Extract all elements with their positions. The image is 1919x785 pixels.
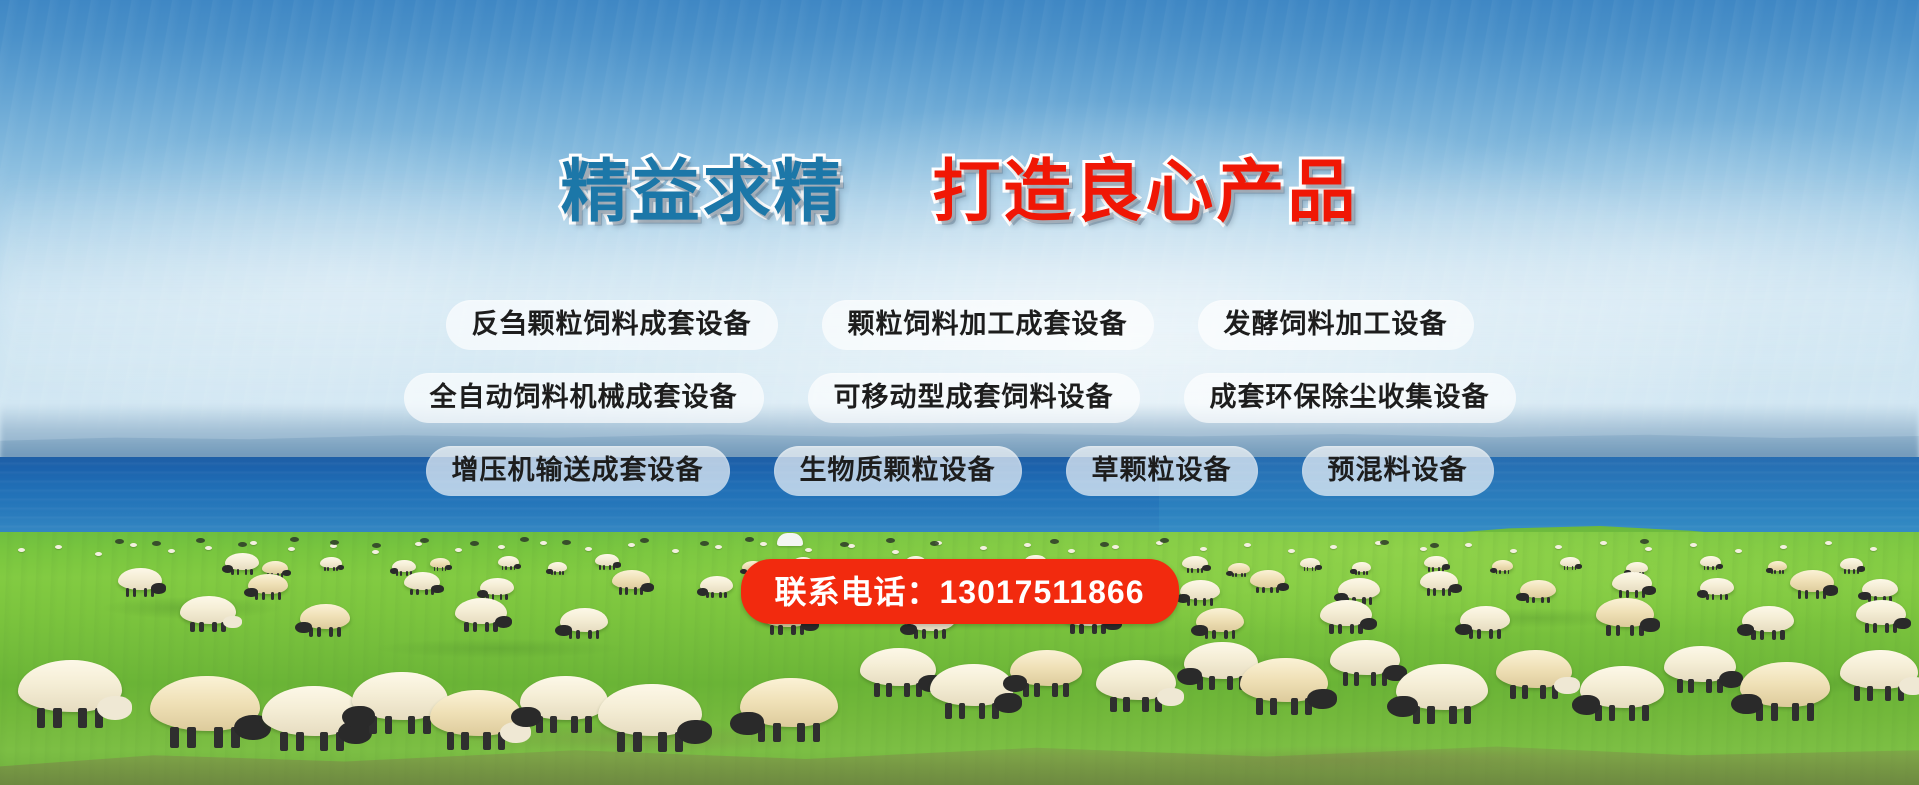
sheep [1250, 570, 1285, 588]
sheep [150, 676, 260, 731]
sheep [1320, 600, 1372, 626]
sheep [1424, 556, 1448, 568]
sheep [1460, 606, 1510, 631]
sheep [1612, 572, 1652, 592]
sheep [262, 561, 288, 574]
sheep [560, 608, 608, 632]
sheep [1396, 664, 1488, 710]
product-pill-zengyaji[interactable]: 增压机输送成套设备 [426, 446, 730, 496]
sheep [1700, 578, 1734, 595]
sheep [1740, 662, 1830, 707]
sheep [225, 553, 259, 570]
sheep [118, 568, 162, 590]
headline-part-2: 打造良心产品 [932, 158, 1358, 226]
sheep [300, 604, 350, 629]
sheep [1240, 658, 1328, 702]
sheep [1420, 571, 1458, 590]
sheep [1182, 556, 1208, 569]
product-row-1: 反刍颗粒饲料成套设备 颗粒饲料加工成套设备 发酵饲料加工设备 [0, 300, 1919, 350]
sheep [1496, 650, 1572, 688]
sheep [1768, 561, 1787, 571]
sheep [1520, 580, 1556, 598]
sheep [1596, 598, 1654, 627]
product-pill-fanchu[interactable]: 反刍颗粒饲料成套设备 [446, 300, 778, 350]
sheep [248, 574, 288, 594]
sheep [392, 560, 416, 572]
product-row-2: 全自动饲料机械成套设备 可移动型成套饲料设备 成套环保除尘收集设备 [0, 373, 1919, 423]
product-row-3: 增压机输送成套设备 生物质颗粒设备 草颗粒设备 预混料设备 [0, 446, 1919, 496]
promo-banner: 精益求精 打造良心产品 反刍颗粒饲料成套设备 颗粒饲料加工成套设备 发酵饲料加工… [0, 0, 1919, 785]
sheep [404, 572, 440, 590]
sheep [595, 554, 619, 566]
sheep [18, 660, 122, 712]
sheep [740, 678, 838, 727]
sheep [1862, 579, 1898, 597]
sheep [1180, 580, 1220, 600]
sheep [1664, 646, 1736, 682]
sheep [1790, 570, 1834, 592]
sheep [612, 570, 650, 589]
product-pill-caokeli[interactable]: 草颗粒设备 [1066, 446, 1258, 496]
sheep [1300, 558, 1320, 568]
product-pill-fajiao[interactable]: 发酵饲料加工设备 [1198, 300, 1474, 350]
sheep [1856, 600, 1906, 625]
sheep [1560, 557, 1580, 567]
sheep [860, 648, 936, 686]
sheep [1700, 556, 1721, 567]
product-pill-keyidong[interactable]: 可移动型成套饲料设备 [808, 373, 1140, 423]
sheep [320, 557, 342, 568]
sheep [1840, 558, 1863, 570]
sheep [1010, 650, 1082, 686]
sheep [700, 576, 733, 593]
sheep [1228, 563, 1250, 574]
sheep [455, 598, 507, 624]
sheep [598, 684, 702, 736]
sheep [520, 676, 608, 720]
product-pill-quanzidong[interactable]: 全自动饲料机械成套设备 [404, 373, 764, 423]
sheep [1742, 606, 1794, 632]
product-pill-keli[interactable]: 颗粒饲料加工成套设备 [822, 300, 1154, 350]
contact-phone-badge[interactable]: 联系电话：13017511866 [740, 559, 1178, 624]
sheep [430, 690, 522, 736]
product-pill-yuhunliao[interactable]: 预混料设备 [1302, 446, 1494, 496]
sheep [1096, 660, 1176, 700]
headline-part-1: 精益求精 [561, 158, 845, 226]
sheep [1330, 640, 1400, 675]
sheep [1492, 560, 1513, 571]
sheep [1338, 578, 1380, 599]
sheep [548, 562, 567, 572]
sheep [930, 664, 1014, 706]
sheep [180, 596, 236, 624]
sheep [1840, 650, 1918, 689]
sheep [430, 558, 450, 568]
product-pill-huanbao[interactable]: 成套环保除尘收集设备 [1184, 373, 1516, 423]
sheep [1580, 666, 1664, 708]
sheep [1196, 608, 1244, 632]
sheep [480, 578, 514, 595]
headline: 精益求精 打造良心产品 [0, 158, 1919, 226]
sheep [1352, 562, 1371, 572]
sheep [498, 556, 519, 567]
product-category-list: 反刍颗粒饲料成套设备 颗粒饲料加工成套设备 发酵饲料加工设备 全自动饲料机械成套… [0, 300, 1919, 519]
product-pill-shengwuzhi[interactable]: 生物质颗粒设备 [774, 446, 1022, 496]
